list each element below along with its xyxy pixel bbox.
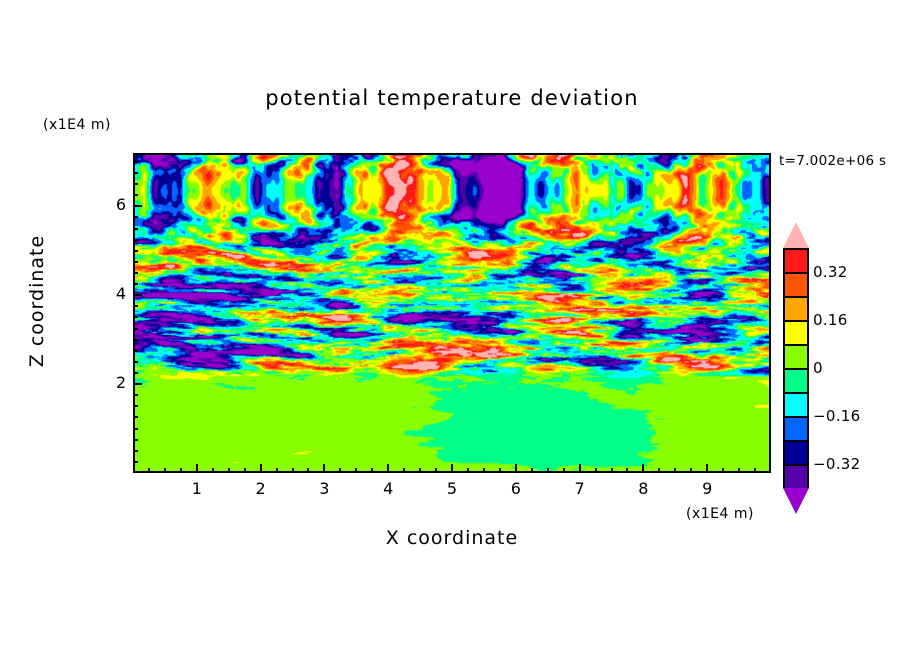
x-tick-major [323, 464, 325, 473]
x-tick-minor [547, 468, 549, 473]
x-tick-minor [403, 468, 405, 473]
y-tick-minor [133, 172, 138, 174]
x-tick-minor [690, 468, 692, 473]
x-tick-minor [276, 468, 278, 473]
x-tick-minor [292, 468, 294, 473]
colorbar-band [785, 442, 807, 466]
x-tick-major [387, 464, 389, 473]
colorbar-band [785, 370, 807, 394]
y-tick-minor [133, 328, 138, 330]
colorbar-tick-label: 0 [813, 359, 823, 377]
colorbar-band [785, 322, 807, 346]
x-tick-major [196, 464, 198, 473]
x-tick-minor [355, 468, 357, 473]
y-tick-major [133, 294, 142, 296]
y-tick-minor [133, 272, 138, 274]
colorbar-bands [783, 248, 809, 488]
contour-field [135, 155, 769, 471]
y-axis-title: Z coordinate [26, 201, 48, 401]
contour-plot-area [133, 153, 771, 473]
x-tick-minor [148, 468, 150, 473]
x-tick-minor [611, 468, 613, 473]
x-tick-label: 1 [177, 479, 217, 498]
x-tick-minor [563, 468, 565, 473]
y-axis-unit-label: (x1E4 m) [43, 117, 111, 133]
x-tick-minor [339, 468, 341, 473]
y-tick-minor [133, 161, 138, 163]
x-tick-minor [467, 468, 469, 473]
x-tick-major [579, 464, 581, 473]
y-tick-minor [133, 416, 138, 418]
y-tick-minor [133, 250, 138, 252]
x-tick-label: 2 [241, 479, 281, 498]
x-tick-minor [435, 468, 437, 473]
colorbar-tick-label: −0.32 [813, 455, 860, 473]
x-tick-label: 4 [368, 479, 408, 498]
x-tick-minor [754, 468, 756, 473]
y-tick-major [133, 205, 142, 207]
y-tick-minor [133, 439, 138, 441]
x-tick-minor [531, 468, 533, 473]
colorbar-band [785, 394, 807, 418]
y-tick-minor [133, 450, 138, 452]
x-tick-minor [307, 468, 309, 473]
x-tick-major [706, 464, 708, 473]
x-tick-major [451, 464, 453, 473]
x-tick-minor [658, 468, 660, 473]
y-tick-minor [133, 183, 138, 185]
x-axis-unit-label: (x1E4 m) [686, 506, 754, 522]
y-tick-label: 4 [86, 284, 126, 303]
x-tick-minor [738, 468, 740, 473]
x-tick-minor [371, 468, 373, 473]
y-tick-minor [133, 283, 138, 285]
colorbar-tick-label: 0.16 [813, 311, 848, 329]
x-tick-minor [722, 468, 724, 473]
x-tick-minor [180, 468, 182, 473]
colorbar-band [785, 298, 807, 322]
y-tick-label: 2 [86, 373, 126, 392]
y-axis-tick-labels: 246 [86, 153, 126, 473]
colorbar-band [785, 418, 807, 442]
page-title: potential temperature deviation [0, 86, 904, 110]
colorbar-under-arrow [783, 488, 809, 514]
x-tick-minor [626, 468, 628, 473]
x-tick-label: 9 [687, 479, 727, 498]
y-tick-minor [133, 316, 138, 318]
y-tick-minor [133, 216, 138, 218]
y-tick-minor [133, 350, 138, 352]
x-axis-title: X coordinate [0, 527, 904, 549]
x-tick-minor [212, 468, 214, 473]
y-tick-minor [133, 361, 138, 363]
y-tick-minor [133, 194, 138, 196]
colorbar-band [785, 466, 807, 490]
x-tick-minor [595, 468, 597, 473]
y-tick-major [133, 383, 142, 385]
x-tick-label: 5 [432, 479, 472, 498]
x-tick-label: 8 [623, 479, 663, 498]
colorbar-tick-label: 0.32 [813, 263, 848, 281]
x-tick-major [515, 464, 517, 473]
colorbar-tick-label: −0.16 [813, 407, 860, 425]
x-tick-major [642, 464, 644, 473]
colorbar: 0.320.160−0.16−0.32 [783, 222, 809, 514]
x-tick-minor [228, 468, 230, 473]
x-tick-minor [164, 468, 166, 473]
colorbar-over-arrow [783, 222, 809, 248]
y-tick-label: 6 [86, 195, 126, 214]
y-tick-minor [133, 428, 138, 430]
x-tick-major [260, 464, 262, 473]
x-tick-label: 3 [304, 479, 344, 498]
y-tick-minor [133, 405, 138, 407]
colorbar-band [785, 274, 807, 298]
y-tick-minor [133, 372, 138, 374]
x-tick-label: 7 [560, 479, 600, 498]
y-tick-minor [133, 239, 138, 241]
y-tick-minor [133, 228, 138, 230]
x-tick-minor [244, 468, 246, 473]
y-tick-minor [133, 394, 138, 396]
x-tick-minor [419, 468, 421, 473]
timestamp-annotation: t=7.002e+06 s [779, 153, 886, 169]
y-tick-minor [133, 461, 138, 463]
y-tick-minor [133, 261, 138, 263]
figure-root: potential temperature deviation (x1E4 m)… [0, 0, 904, 654]
y-tick-minor [133, 339, 138, 341]
x-tick-label: 6 [496, 479, 536, 498]
y-tick-minor [133, 305, 138, 307]
x-tick-minor [674, 468, 676, 473]
colorbar-band [785, 250, 807, 274]
x-tick-minor [483, 468, 485, 473]
x-tick-minor [499, 468, 501, 473]
colorbar-band [785, 346, 807, 370]
